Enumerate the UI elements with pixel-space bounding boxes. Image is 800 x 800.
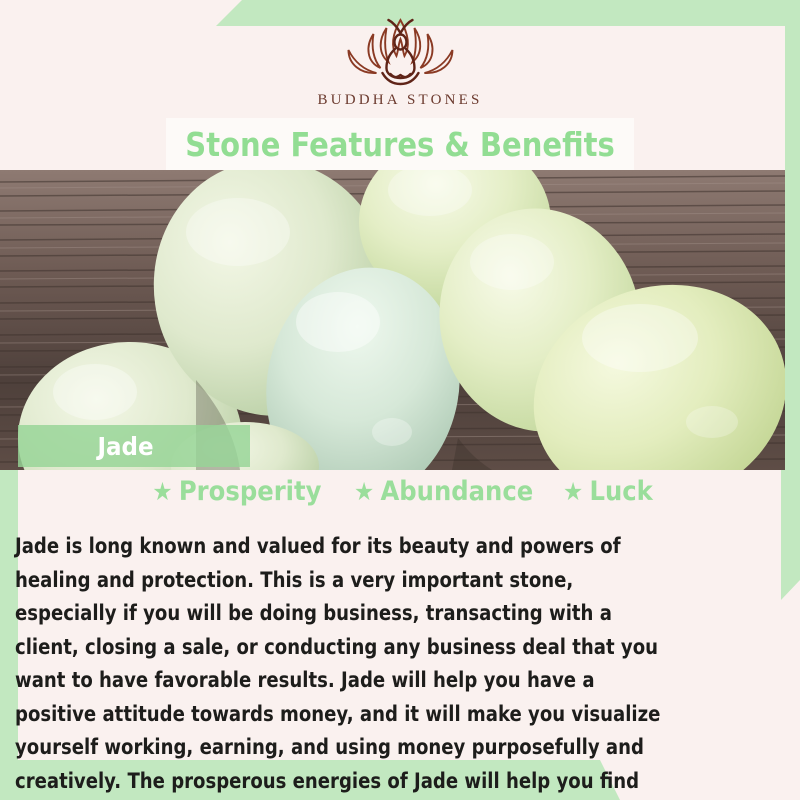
star-icon: ★ bbox=[354, 479, 374, 504]
title-banner: Stone Features & Benefits bbox=[166, 118, 634, 170]
keyword-list: ★ Prosperity ★ Abundance ★ Luck bbox=[0, 478, 800, 505]
keyword-luck: ★ Luck bbox=[563, 478, 653, 505]
page-title: Stone Features & Benefits bbox=[185, 128, 614, 161]
decor-band-right-photo bbox=[785, 170, 800, 470]
keyword-label: Luck bbox=[589, 478, 652, 505]
star-icon: ★ bbox=[152, 479, 172, 504]
brand-logo: BUDDHA STONES bbox=[317, 16, 482, 109]
keyword-label: Prosperity bbox=[178, 478, 321, 505]
brand-name: BUDDHA STONES bbox=[317, 92, 482, 109]
header: BUDDHA STONES bbox=[0, 0, 800, 118]
description-text: Jade is long known and valued for its be… bbox=[15, 530, 670, 800]
stone-name-label: Jade bbox=[18, 425, 250, 467]
lotus-meditation-icon bbox=[326, 16, 474, 88]
keyword-label: Abundance bbox=[381, 478, 534, 505]
keyword-prosperity: ★ Prosperity bbox=[152, 478, 321, 505]
stone-name-text: Jade bbox=[97, 434, 153, 459]
keyword-abundance: ★ Abundance bbox=[354, 478, 533, 505]
stone-info-card: BUDDHA STONES Stone Features & Benefits bbox=[0, 0, 800, 800]
star-icon: ★ bbox=[563, 479, 583, 504]
